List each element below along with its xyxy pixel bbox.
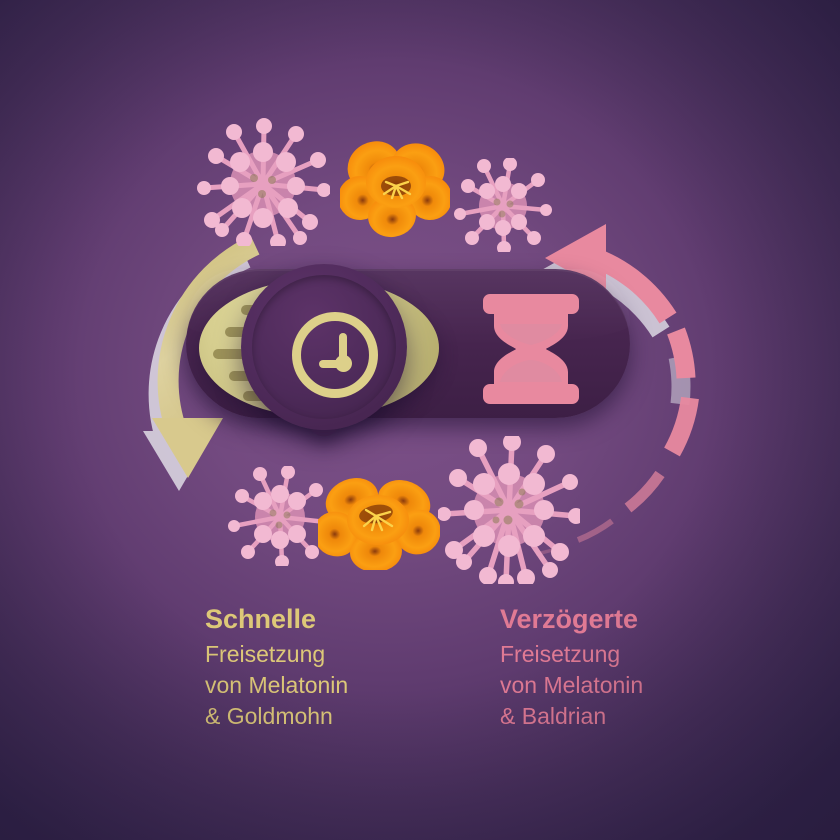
pink-dash-3 [628, 474, 660, 508]
delayed-release-heading: Verzögerte [500, 602, 800, 636]
clock-center-hub [335, 355, 352, 372]
infographic-canvas: Schnelle Freisetzung von Melatonin & Gol… [0, 0, 840, 840]
delayed-release-text-block: Verzögerte Freisetzung von Melatonin & B… [500, 602, 800, 732]
delayed-release-line-1: Freisetzung [500, 639, 800, 670]
valerian-flower-top-left [196, 118, 330, 246]
delayed-release-line-3: & Baldrian [500, 701, 800, 732]
poppy-flower-top-center [340, 130, 450, 238]
valerian-flower-bottom-right [438, 436, 580, 584]
pin-inner-ring [252, 275, 396, 419]
poppy-flower-bottom-center [318, 472, 440, 570]
clock-pin-marker [241, 264, 407, 464]
hourglass-icon [476, 288, 586, 406]
fast-release-text-block: Schnelle Freisetzung von Melatonin & Gol… [205, 602, 505, 732]
valerian-flower-top-right [454, 158, 552, 252]
gold-arrow-head [152, 418, 223, 478]
fast-release-line-3: & Goldmohn [205, 701, 505, 732]
pink-dash-2 [672, 398, 690, 452]
fast-release-heading: Schnelle [205, 602, 505, 636]
pink-dash-4 [578, 521, 612, 540]
pink-arc-shadow [678, 357, 681, 404]
clock-icon [292, 312, 378, 398]
pink-dash-1 [676, 331, 686, 378]
fast-release-line-2: von Melatonin [205, 670, 505, 701]
fast-release-line-1: Freisetzung [205, 639, 505, 670]
delayed-release-line-2: von Melatonin [500, 670, 800, 701]
valerian-flower-bottom-left [228, 466, 332, 566]
